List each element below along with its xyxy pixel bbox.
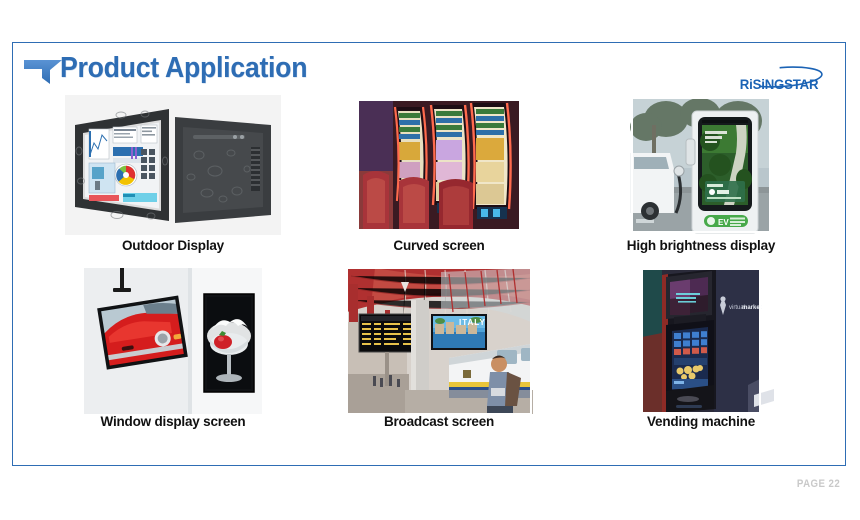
page-title: Product Application — [60, 52, 307, 85]
svg-text:ITALY: ITALY — [459, 318, 486, 327]
card-caption: Vending machine — [576, 414, 826, 429]
slide-root: Product Application RiSiNGSTAR — [0, 0, 860, 520]
thumb-high-brightness-display: EV — [576, 92, 826, 238]
blue-flag-icon — [22, 58, 64, 88]
card-caption: High brightness display — [576, 238, 826, 253]
card-high-brightness-display[interactable]: EV High brightness display — [576, 92, 826, 268]
brand-logo: RiSiNGSTAR — [728, 62, 832, 96]
card-outdoor-display[interactable]: Outdoor Display — [48, 92, 298, 268]
thumb-vending-machine: virtual market — [576, 268, 826, 414]
card-caption: Outdoor Display — [48, 238, 298, 253]
card-caption: Curved screen — [314, 238, 564, 253]
svg-text:EV: EV — [718, 218, 729, 227]
ev-badge: EV — [704, 215, 748, 227]
thumb-broadcast-screen: ITALY — [314, 268, 564, 414]
thumb-curved-screen — [314, 92, 564, 238]
application-grid: Outdoor Display — [14, 92, 846, 464]
grid-row-2: Window display screen — [14, 268, 846, 444]
svg-text:RiSiNGSTAR: RiSiNGSTAR — [740, 77, 819, 92]
thumb-outdoor-display — [48, 92, 298, 238]
grid-row-1: Outdoor Display — [14, 92, 846, 268]
card-vending-machine[interactable]: virtual market Vending machine — [576, 268, 826, 444]
card-curved-screen[interactable]: Curved screen — [314, 92, 564, 268]
card-caption: Window display screen — [48, 414, 298, 429]
card-broadcast-screen[interactable]: ITALY — [314, 268, 564, 444]
card-caption: Broadcast screen — [314, 414, 564, 429]
svg-text:market: market — [742, 305, 762, 311]
thumb-window-display-screen — [48, 268, 298, 414]
page-number: PAGE 22 — [797, 478, 840, 490]
slide-header: Product Application RiSiNGSTAR — [12, 48, 846, 96]
card-window-display-screen[interactable]: Window display screen — [48, 268, 298, 444]
